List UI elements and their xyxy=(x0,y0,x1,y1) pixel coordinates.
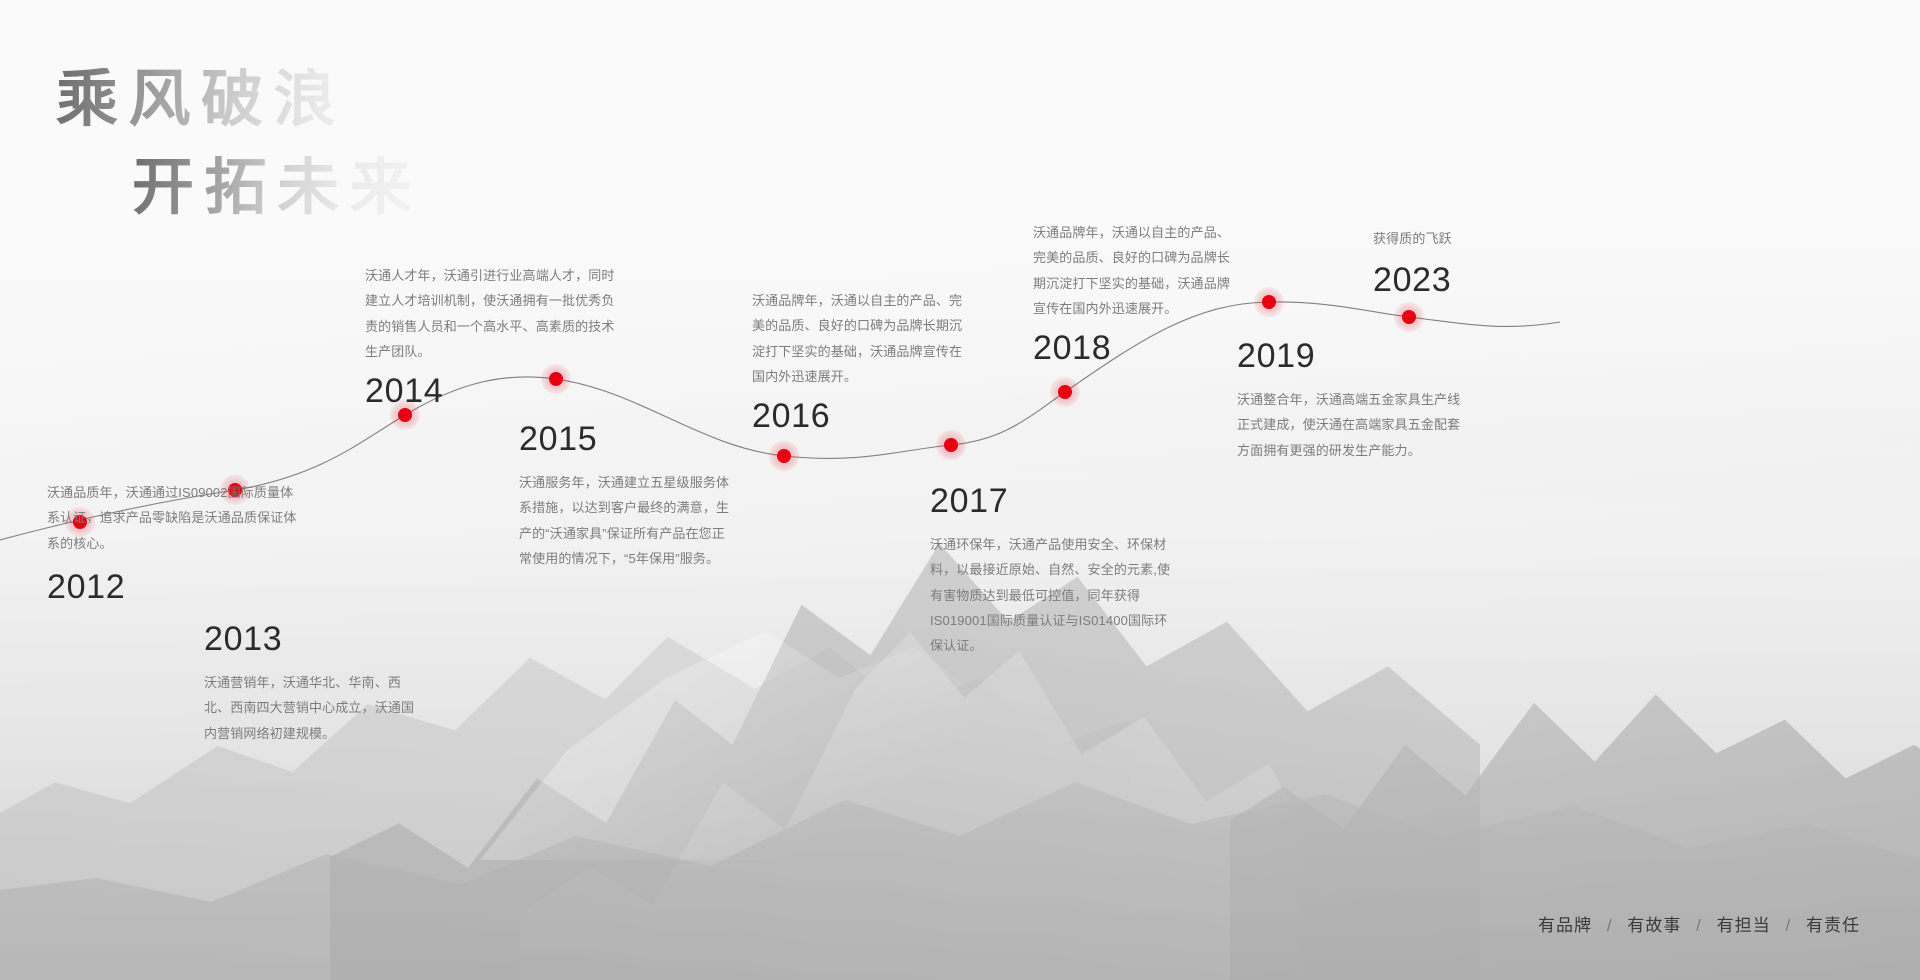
milestone-dot-2016[interactable] xyxy=(769,441,799,471)
milestone-desc-2019: 沃通整合年，沃通高端五金家具生产线正式建成，使沃通在高端家具五金配套方面拥有更强… xyxy=(1237,387,1469,463)
dot-core xyxy=(944,438,958,452)
milestone-year-2019: 2019 xyxy=(1237,339,1469,373)
headline-line-1: 乘风破浪 xyxy=(56,68,422,134)
dot-halo xyxy=(1050,377,1080,407)
milestone-2023[interactable]: 获得质的飞跃 2023 xyxy=(1373,226,1563,297)
dot-core xyxy=(398,408,412,422)
dot-halo xyxy=(1254,287,1284,317)
milestone-year-2017: 2017 xyxy=(930,484,1178,518)
tagline-separator: / xyxy=(1607,916,1613,935)
dot-halo xyxy=(769,441,799,471)
headline-block: 乘风破浪 开拓未来 xyxy=(56,68,422,221)
milestone-desc-2017: 沃通环保年，沃通产品使用安全、环保材料，以最接近原始、自然、安全的元素,使有害物… xyxy=(930,532,1178,659)
dot-core xyxy=(1058,385,1072,399)
milestone-desc-2016: 沃通品牌年，沃通以自主的产品、完美的品质、良好的口碑为品牌长期沉淀打下坚实的基础… xyxy=(752,288,964,389)
headline-line-2: 开拓未来 xyxy=(132,156,422,222)
tagline-item-1: 有品牌 xyxy=(1538,916,1592,935)
dot-core xyxy=(777,449,791,463)
milestone-2014[interactable]: 沃通人才年，沃通引进行业高端人才，同时建立人才培训机制，使沃通拥有一批优秀负责的… xyxy=(365,263,623,408)
dot-core xyxy=(1402,310,1416,324)
tagline-item-3: 有担当 xyxy=(1717,916,1771,935)
milestone-dot-2018[interactable] xyxy=(1050,377,1080,407)
milestone-dot-2023[interactable] xyxy=(1394,302,1424,332)
milestone-dot-2017[interactable] xyxy=(936,430,966,460)
milestone-2017[interactable]: 2017 沃通环保年，沃通产品使用安全、环保材料，以最接近原始、自然、安全的元素… xyxy=(930,484,1178,659)
milestone-year-2016: 2016 xyxy=(752,399,964,433)
milestone-year-2014: 2014 xyxy=(365,374,623,408)
milestone-year-2023: 2023 xyxy=(1373,263,1563,297)
milestone-desc-2023: 获得质的飞跃 xyxy=(1373,226,1563,251)
milestone-desc-2013: 沃通营销年，沃通华北、华南、西北、西南四大营销中心成立，沃通国内营销网络初建规模… xyxy=(204,670,419,746)
milestone-desc-2012: 沃通品质年，沃通通过IS09002国际质量体系认证，追求产品零缺陷是沃通品质保证… xyxy=(47,480,297,556)
tagline-separator: / xyxy=(1696,916,1702,935)
footer-tagline: 有品牌 / 有故事 / 有担当 / 有责任 xyxy=(1538,911,1860,936)
milestone-2015[interactable]: 2015 沃通服务年，沃通建立五星级服务体系措施，以达到客户最终的满意，生产的“… xyxy=(519,422,731,571)
tagline-item-2: 有故事 xyxy=(1627,916,1681,935)
milestone-desc-2014: 沃通人才年，沃通引进行业高端人才，同时建立人才培训机制，使沃通拥有一批优秀负责的… xyxy=(365,263,623,364)
milestone-2013[interactable]: 2013 沃通营销年，沃通华北、华南、西北、西南四大营销中心成立，沃通国内营销网… xyxy=(204,622,419,746)
tagline-separator: / xyxy=(1785,916,1791,935)
dot-halo xyxy=(1394,302,1424,332)
milestone-year-2013: 2013 xyxy=(204,622,419,656)
tagline-item-4: 有责任 xyxy=(1806,916,1860,935)
milestone-2019[interactable]: 2019 沃通整合年，沃通高端五金家具生产线正式建成，使沃通在高端家具五金配套方… xyxy=(1237,339,1469,463)
milestone-year-2012: 2012 xyxy=(47,570,297,604)
dot-core xyxy=(1262,295,1276,309)
poster-canvas: 乘风破浪 开拓未来 沃通品质年，沃通通过IS09002国际质量体系认证，追求产品… xyxy=(0,0,1920,980)
milestone-desc-2018: 沃通品牌年，沃通以自主的产品、完美的品质、良好的口碑为品牌长期沉淀打下坚实的基础… xyxy=(1033,220,1241,321)
milestone-2018[interactable]: 沃通品牌年，沃通以自主的产品、完美的品质、良好的口碑为品牌长期沉淀打下坚实的基础… xyxy=(1033,220,1241,365)
milestone-year-2015: 2015 xyxy=(519,422,731,456)
milestone-2012[interactable]: 沃通品质年，沃通通过IS09002国际质量体系认证，追求产品零缺陷是沃通品质保证… xyxy=(47,466,297,604)
milestone-dot-2019[interactable] xyxy=(1254,287,1284,317)
milestone-2016[interactable]: 沃通品牌年，沃通以自主的产品、完美的品质、良好的口碑为品牌长期沉淀打下坚实的基础… xyxy=(752,288,964,433)
milestone-year-2018: 2018 xyxy=(1033,331,1241,365)
milestone-desc-2015: 沃通服务年，沃通建立五星级服务体系措施，以达到客户最终的满意，生产的“沃通家具”… xyxy=(519,470,731,571)
dot-halo xyxy=(936,430,966,460)
